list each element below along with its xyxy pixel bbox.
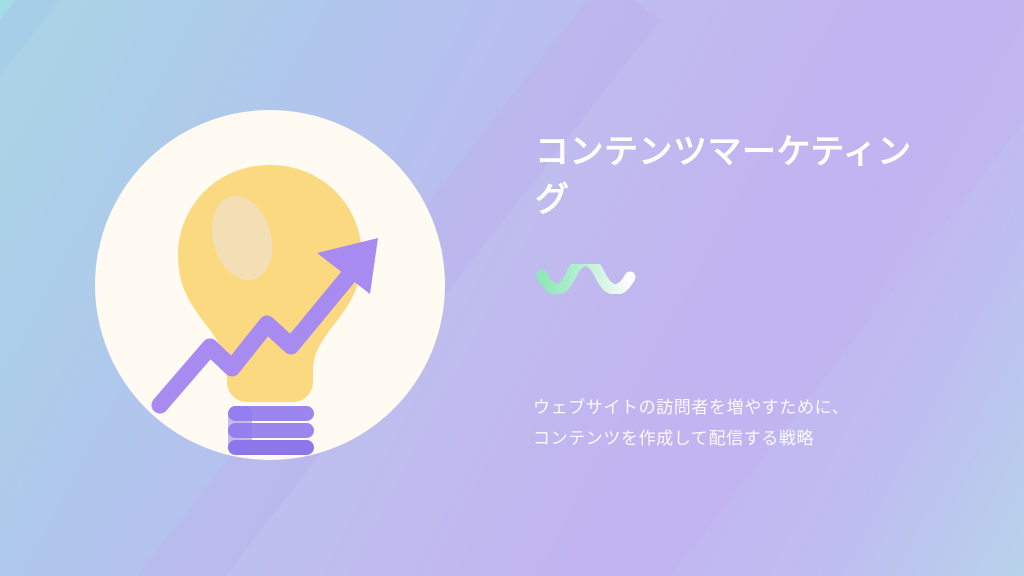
lightbulb-growth-arrow-illustration [95, 110, 445, 460]
wavy-squiggle-icon [535, 264, 637, 294]
illustration-svg [95, 110, 445, 460]
text-column: コンテンツマーケティン グ [535, 128, 965, 294]
page-title: コンテンツマーケティン グ [535, 128, 965, 224]
squiggle-path [542, 264, 630, 290]
presentation-slide: コンテンツマーケティン グ ウェブサイトの訪問者を増やすために、 コンテンツを作… [0, 0, 1024, 576]
bulb-base-icon [228, 406, 314, 455]
subtitle-text: ウェブサイトの訪問者を増やすために、 コンテンツを作成して配信する戦略 [533, 392, 953, 454]
base-shadow [228, 406, 252, 455]
